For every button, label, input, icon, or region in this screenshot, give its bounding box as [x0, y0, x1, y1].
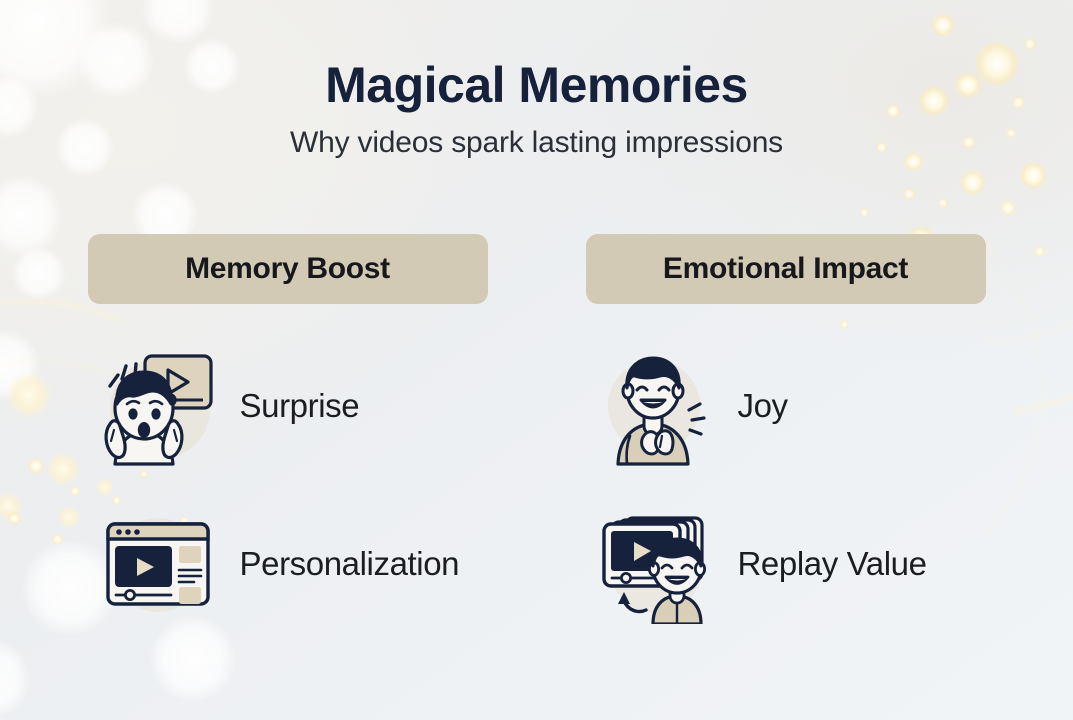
- column-memory-boost: Memory Boost: [88, 234, 488, 658]
- list-item[interactable]: Replay Value: [586, 500, 986, 628]
- list-item-label: Personalization: [240, 545, 460, 583]
- joyful-person-icon: [596, 346, 716, 466]
- sparkle-dot: [960, 170, 985, 195]
- section-heading-label: Memory Boost: [185, 252, 390, 286]
- sparkle-dot: [932, 14, 954, 36]
- emotional-impact-items: Joy: [586, 342, 986, 628]
- page-subtitle: Why videos spark lasting impressions: [0, 126, 1073, 160]
- header-block: Magical Memories Why videos spark lastin…: [0, 58, 1073, 160]
- sparkle-dot: [938, 198, 948, 208]
- list-item-label: Replay Value: [738, 545, 927, 583]
- sparkle-dot: [1000, 200, 1016, 216]
- section-heading-memory-boost: Memory Boost: [88, 234, 488, 304]
- list-item[interactable]: Joy: [586, 342, 986, 470]
- list-item[interactable]: Personalization: [88, 500, 488, 628]
- memory-boost-items: Surprise: [88, 342, 488, 628]
- page-title: Magical Memories: [0, 58, 1073, 112]
- sparkle-dot: [1020, 162, 1047, 189]
- browser-video-player-icon: [98, 504, 218, 624]
- surprised-face-video-icon: [98, 346, 218, 466]
- list-item-label: Joy: [738, 387, 788, 425]
- list-item[interactable]: Surprise: [88, 342, 488, 470]
- slide-canvas: Magical Memories Why videos spark lastin…: [0, 0, 1073, 720]
- stacked-video-replay-icon: [596, 504, 716, 624]
- column-emotional-impact: Emotional Impact: [586, 234, 986, 658]
- section-heading-emotional-impact: Emotional Impact: [586, 234, 986, 304]
- columns-container: Memory Boost: [0, 234, 1073, 658]
- bokeh-circle: [142, 0, 214, 44]
- sparkle-dot: [903, 188, 915, 200]
- section-heading-label: Emotional Impact: [663, 252, 908, 286]
- list-item-label: Surprise: [240, 387, 360, 425]
- sparkle-dot: [1024, 38, 1036, 50]
- sparkle-dot: [860, 208, 869, 217]
